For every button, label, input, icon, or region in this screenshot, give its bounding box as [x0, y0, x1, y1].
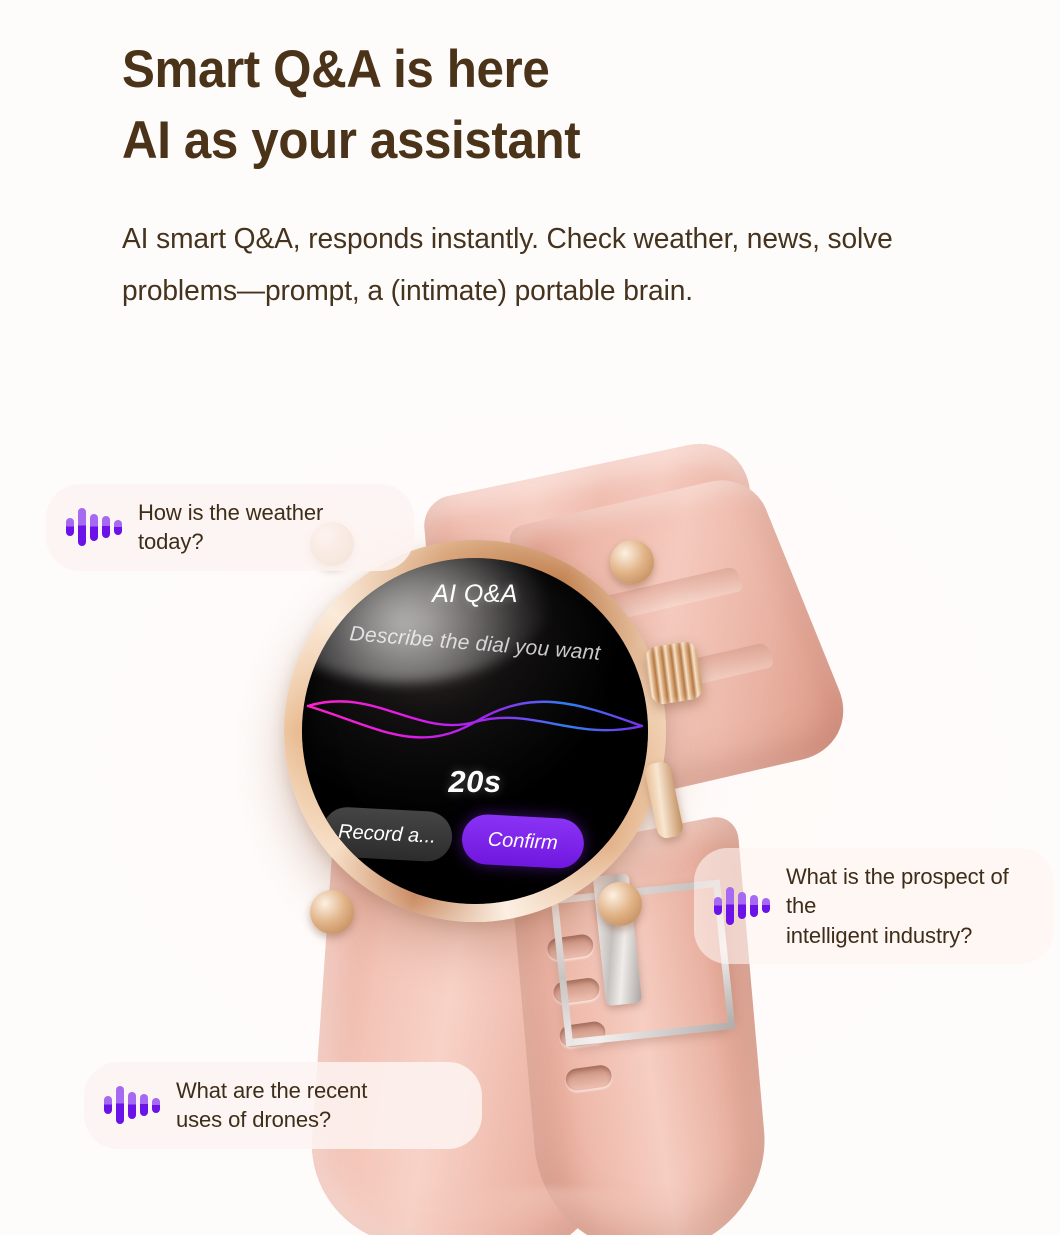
- record-again-button[interactable]: Record a...: [321, 806, 453, 863]
- page-description: AI smart Q&A, responds instantly. Check …: [122, 214, 917, 317]
- headline-line-2: AI as your assistant: [122, 111, 580, 170]
- screen-button-row: Record a... Confirm: [321, 806, 633, 872]
- voice-bubble-text: What is the prospect of the intelligent …: [786, 862, 1024, 950]
- watch-screen[interactable]: AI Q&A Describe the dial you want: [302, 558, 648, 904]
- product-reflection: [380, 1188, 720, 1235]
- voice-bubble-industry[interactable]: What is the prospect of the intelligent …: [694, 848, 1054, 964]
- voice-bubble-text: How is the weather today?: [138, 498, 323, 557]
- page-title: Smart Q&A is hereAI as your assistant: [122, 34, 894, 176]
- voice-wave-icon: [104, 1085, 160, 1125]
- confirm-button[interactable]: Confirm: [461, 813, 585, 869]
- product-feature-page: Smart Q&A is hereAI as your assistant AI…: [0, 0, 1060, 1235]
- voice-bubble-drones[interactable]: What are the recent uses of drones?: [84, 1062, 482, 1149]
- headline-line-1: Smart Q&A is here: [122, 40, 549, 99]
- voice-bubble-text: What are the recent uses of drones?: [176, 1076, 367, 1135]
- watch-crown[interactable]: [644, 640, 704, 705]
- voice-waveform-graphic: [304, 680, 646, 764]
- screen-title: AI Q&A: [302, 580, 648, 609]
- voice-wave-icon: [66, 507, 122, 547]
- recording-timer: 20s: [302, 764, 648, 800]
- copy-block: Smart Q&A is hereAI as your assistant AI…: [122, 34, 952, 317]
- screen-subtitle: Describe the dial you want: [310, 619, 641, 669]
- voice-wave-icon: [714, 886, 770, 926]
- voice-bubble-weather[interactable]: How is the weather today?: [46, 484, 414, 571]
